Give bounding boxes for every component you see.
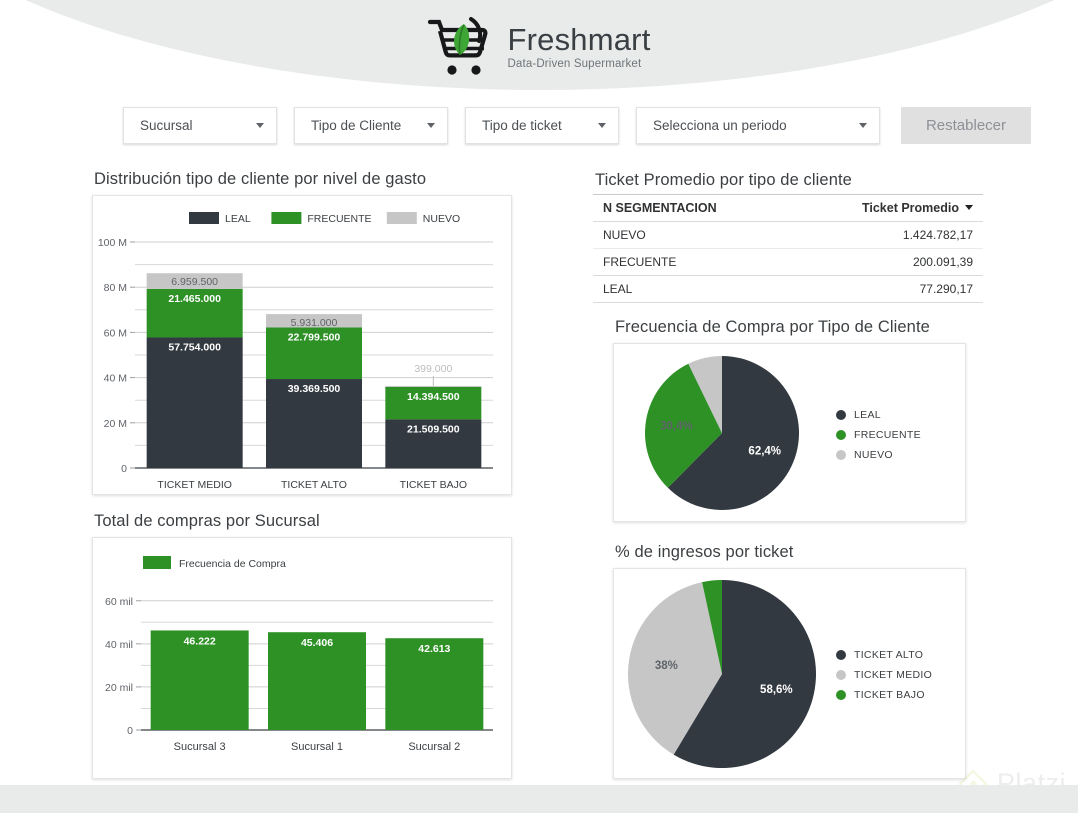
table-row[interactable]: LEAL77.290,17 <box>593 276 983 303</box>
pie-ingresos-title: % de ingresos por ticket <box>615 543 794 562</box>
filter-sucursal-label: Sucursal <box>140 118 193 133</box>
pie-frecuencia-legend: LEALFRECUENTENUEVO <box>836 409 921 469</box>
x-tick-label: TICKET MEDIO <box>157 479 231 491</box>
legend-label: LEAL <box>854 409 881 421</box>
y-tick-label: 60 mil <box>105 596 133 608</box>
filter-periodo[interactable]: Selecciona un periodo <box>636 107 880 144</box>
legend-item[interactable]: FRECUENTE <box>836 429 921 441</box>
bar-value-label: 6.959.500 <box>171 276 218 288</box>
pie-value-label: 58,6% <box>760 684 793 696</box>
chevron-down-icon <box>427 123 435 128</box>
bar-value-label: 5.931.000 <box>291 317 338 329</box>
chevron-down-icon <box>598 123 606 128</box>
pie-value-label: 62,4% <box>748 446 781 458</box>
filter-tipo-de-ticket[interactable]: Tipo de ticket <box>465 107 619 144</box>
bar-value-label: 14.394.500 <box>407 391 460 403</box>
sucursal-chart-card: Frecuencia de Compra020 mil40 mil60 mil4… <box>92 537 512 779</box>
page-header: Freshmart Data-Driven Supermarket <box>0 0 1078 92</box>
legend-label: FRECUENTE <box>854 429 921 441</box>
legend-label-frecuente: FRECUENTE <box>307 213 371 225</box>
x-tick-label: Sucursal 1 <box>291 741 343 753</box>
bar-value-label: 21.509.500 <box>407 423 460 435</box>
table-row[interactable]: FRECUENTE200.091,39 <box>593 249 983 276</box>
legend-dot-nuevo <box>836 450 846 460</box>
x-tick-label: TICKET ALTO <box>281 479 347 491</box>
legend-label: TICKET ALTO <box>854 649 923 661</box>
x-tick-label: Sucursal 2 <box>408 741 460 753</box>
brand-name: Freshmart <box>507 24 650 57</box>
bar-segment-leal[interactable] <box>147 337 243 468</box>
bar-value-label: 21.465.000 <box>168 293 221 305</box>
filter-bar: Sucursal Tipo de Cliente Tipo de ticket … <box>123 107 1031 144</box>
table-cell-segmentacion: NUEVO <box>593 222 790 249</box>
legend-item[interactable]: TICKET ALTO <box>836 649 932 661</box>
filter-tipo-de-ticket-label: Tipo de ticket <box>482 118 562 133</box>
shopping-cart-leaf-icon <box>427 15 493 77</box>
table-cell-segmentacion: FRECUENTE <box>593 249 790 276</box>
y-tick-label: 60 M <box>104 327 127 339</box>
legend-swatch-leal <box>189 212 219 224</box>
legend-label-frecuencia: Frecuencia de Compra <box>179 558 286 570</box>
y-tick-label: 20 mil <box>105 682 133 694</box>
sort-descending-icon[interactable] <box>965 205 973 210</box>
y-tick-label: 0 <box>121 463 127 475</box>
table-header-segmentacion[interactable]: N SEGMENTACION <box>593 195 790 222</box>
stacked-chart-card: LEALFRECUENTENUEVO020 M40 M60 M80 M100 M… <box>92 195 512 495</box>
legend-dot-ticket-medio <box>836 670 846 680</box>
y-tick-label: 40 M <box>104 373 127 385</box>
reset-button[interactable]: Restablecer <box>901 107 1031 144</box>
legend-label-leal: LEAL <box>225 213 251 225</box>
bar-value-label: 399.000 <box>414 363 452 375</box>
y-tick-label: 80 M <box>104 282 127 294</box>
x-tick-label: Sucursal 3 <box>174 741 226 753</box>
filter-periodo-label: Selecciona un periodo <box>653 118 787 133</box>
legend-item[interactable]: LEAL <box>836 409 921 421</box>
table-header-ticket-promedio[interactable]: Ticket Promedio <box>790 195 983 222</box>
filter-tipo-de-cliente-label: Tipo de Cliente <box>311 118 401 133</box>
y-tick-label: 100 M <box>98 237 127 249</box>
filter-sucursal[interactable]: Sucursal <box>123 107 277 144</box>
footer-strip <box>0 785 1078 813</box>
table-cell-ticket-promedio: 1.424.782,17 <box>790 222 983 249</box>
bar-value-label: 42.613 <box>418 643 450 655</box>
table-cell-ticket-promedio: 200.091,39 <box>790 249 983 276</box>
dashboard-page: Freshmart Data-Driven Supermarket Sucurs… <box>0 0 1078 813</box>
table-title: Ticket Promedio por tipo de cliente <box>595 171 852 190</box>
sucursal-chart-title: Total de compras por Sucursal <box>94 512 320 531</box>
sucursal-bar-chart[interactable]: Frecuencia de Compra020 mil40 mil60 mil4… <box>93 538 511 778</box>
stacked-chart-title: Distribución tipo de cliente por nivel d… <box>94 170 426 189</box>
legend-swatch-frecuente <box>271 212 301 224</box>
table-header-ticket-promedio-label: Ticket Promedio <box>862 201 959 215</box>
legend-item[interactable]: TICKET MEDIO <box>836 669 932 681</box>
legend-label: TICKET BAJO <box>854 689 925 701</box>
pie-value-label: 30,4% <box>660 420 693 432</box>
bar-value-label: 45.406 <box>301 637 333 649</box>
chevron-down-icon <box>859 123 867 128</box>
legend-dot-ticket-alto <box>836 650 846 660</box>
legend-dot-leal <box>836 410 846 420</box>
legend-item[interactable]: TICKET BAJO <box>836 689 932 701</box>
table-row[interactable]: NUEVO1.424.782,17 <box>593 222 983 249</box>
bar-value-label: 57.754.000 <box>168 341 221 353</box>
stacked-bar-chart[interactable]: LEALFRECUENTENUEVO020 M40 M60 M80 M100 M… <box>93 196 511 494</box>
bar-value-label: 46.222 <box>184 635 216 647</box>
y-tick-label: 20 M <box>104 418 127 430</box>
table-header-row: N SEGMENTACION Ticket Promedio <box>593 195 983 222</box>
legend-item[interactable]: NUEVO <box>836 449 921 461</box>
filter-tipo-de-cliente[interactable]: Tipo de Cliente <box>294 107 448 144</box>
legend-swatch-nuevo <box>387 212 417 224</box>
y-tick-label: 40 mil <box>105 639 133 651</box>
pie-value-label: 38% <box>655 660 678 672</box>
legend-label: NUEVO <box>854 449 893 461</box>
ticket-promedio-table: N SEGMENTACION Ticket Promedio NUEVO1.42… <box>593 194 983 303</box>
brand-logo: Freshmart Data-Driven Supermarket <box>0 8 1078 84</box>
chevron-down-icon <box>256 123 264 128</box>
legend-label: TICKET MEDIO <box>854 669 932 681</box>
pie-frecuencia-title: Frecuencia de Compra por Tipo de Cliente <box>615 318 930 337</box>
legend-label-nuevo: NUEVO <box>423 213 460 225</box>
table-cell-segmentacion: LEAL <box>593 276 790 303</box>
x-tick-label: TICKET BAJO <box>400 479 468 491</box>
legend-dot-ticket-bajo <box>836 690 846 700</box>
y-tick-label: 0 <box>127 725 133 737</box>
legend-swatch-frecuencia <box>143 556 171 569</box>
bar-value-label: 22.799.500 <box>288 331 341 343</box>
legend-dot-frecuente <box>836 430 846 440</box>
bar-value-label: 39.369.500 <box>288 383 341 395</box>
bar-segment-nuevo[interactable] <box>385 386 481 387</box>
table-cell-ticket-promedio: 77.290,17 <box>790 276 983 303</box>
brand-tagline: Data-Driven Supermarket <box>507 58 650 70</box>
pie-ingresos-legend: TICKET ALTOTICKET MEDIOTICKET BAJO <box>836 649 932 709</box>
